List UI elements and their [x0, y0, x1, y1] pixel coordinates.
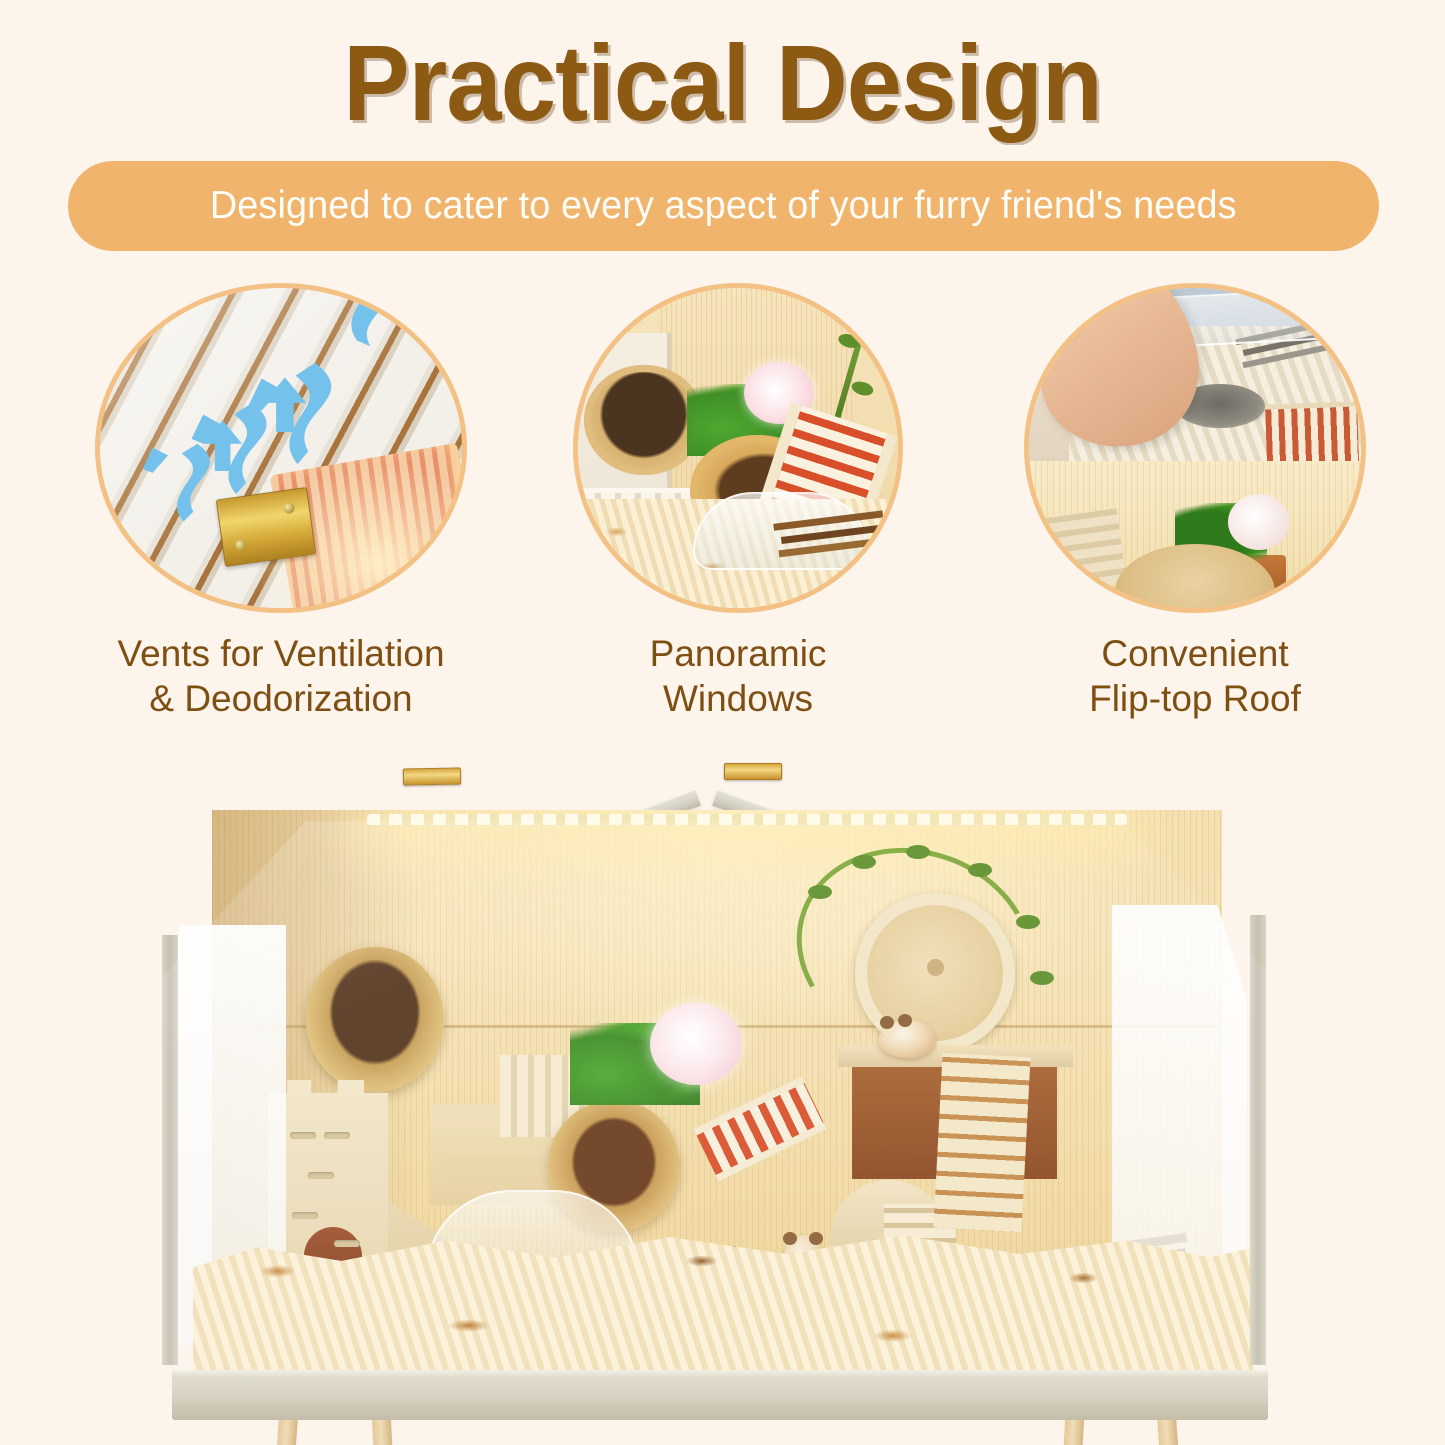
feature-caption-vents: Vents for Ventilation & Deodorization — [95, 631, 467, 721]
castle-slit — [308, 1172, 334, 1179]
feature-image-roof — [1024, 283, 1366, 613]
airflow-arrows-icon — [100, 288, 462, 609]
base-lip — [172, 1370, 1268, 1379]
feature-image-vents — [95, 283, 467, 613]
lower-ladder — [1031, 507, 1127, 594]
product-photo — [0, 755, 1445, 1445]
wooden-leg — [1061, 1418, 1084, 1445]
hamster-ear — [880, 1016, 894, 1029]
page-title: Practical Design — [58, 26, 1387, 139]
hamster-ear — [809, 1232, 823, 1245]
subtitle-banner: Designed to cater to every aspect of you… — [68, 161, 1379, 251]
hinge-icon-right — [724, 763, 782, 780]
woven-straw-nest — [306, 947, 444, 1092]
castle-slit — [324, 1132, 350, 1139]
led-light-wash — [322, 810, 1182, 1040]
feature-image-windows — [573, 283, 903, 613]
feature-list: Vents for Ventilation & Deodorization Pa… — [0, 283, 1445, 743]
vine-leaf — [968, 863, 992, 877]
frame-post-right — [1250, 915, 1266, 1365]
feature-item-windows: Panoramic Windows — [573, 283, 903, 721]
frame-post-left — [162, 935, 178, 1365]
vine-leaf — [1016, 915, 1040, 929]
feature-item-vents: Vents for Ventilation & Deodorization — [95, 283, 467, 721]
vent-panel-scene — [100, 288, 462, 608]
wooden-leg — [273, 1418, 298, 1445]
castle-slit — [290, 1132, 316, 1139]
vine-leaf — [808, 885, 832, 899]
pink-rose-flower — [650, 1003, 742, 1085]
wooden-leg — [1157, 1418, 1182, 1445]
subtitle-text: Designed to cater to every aspect of you… — [210, 184, 1237, 228]
castle-slit — [334, 1240, 360, 1247]
wheel-hub — [927, 959, 944, 976]
hamster-on-platform — [878, 1020, 936, 1058]
interior-window-scene — [578, 288, 898, 608]
vine-leaf — [906, 845, 930, 859]
flip-top-roof-scene — [1029, 288, 1361, 608]
feature-caption-roof: Convenient Flip-top Roof — [1024, 631, 1366, 721]
hamster-ear — [783, 1232, 797, 1245]
climbing-ladder — [933, 1053, 1030, 1232]
wooden-running-wheel — [855, 893, 1015, 1053]
vine-leaf — [852, 855, 876, 869]
castle-slit — [292, 1212, 318, 1219]
vine-leaf — [1030, 971, 1054, 985]
hamster-ear — [898, 1014, 912, 1027]
feature-item-roof: Convenient Flip-top Roof — [1024, 283, 1366, 721]
hinge-icon-left — [403, 767, 461, 785]
feature-caption-windows: Panoramic Windows — [573, 631, 903, 721]
striped-ladder-top — [1265, 402, 1359, 465]
wooden-base-frame — [172, 1370, 1268, 1420]
led-light-strip — [367, 814, 1127, 825]
wooden-leg — [372, 1418, 395, 1445]
